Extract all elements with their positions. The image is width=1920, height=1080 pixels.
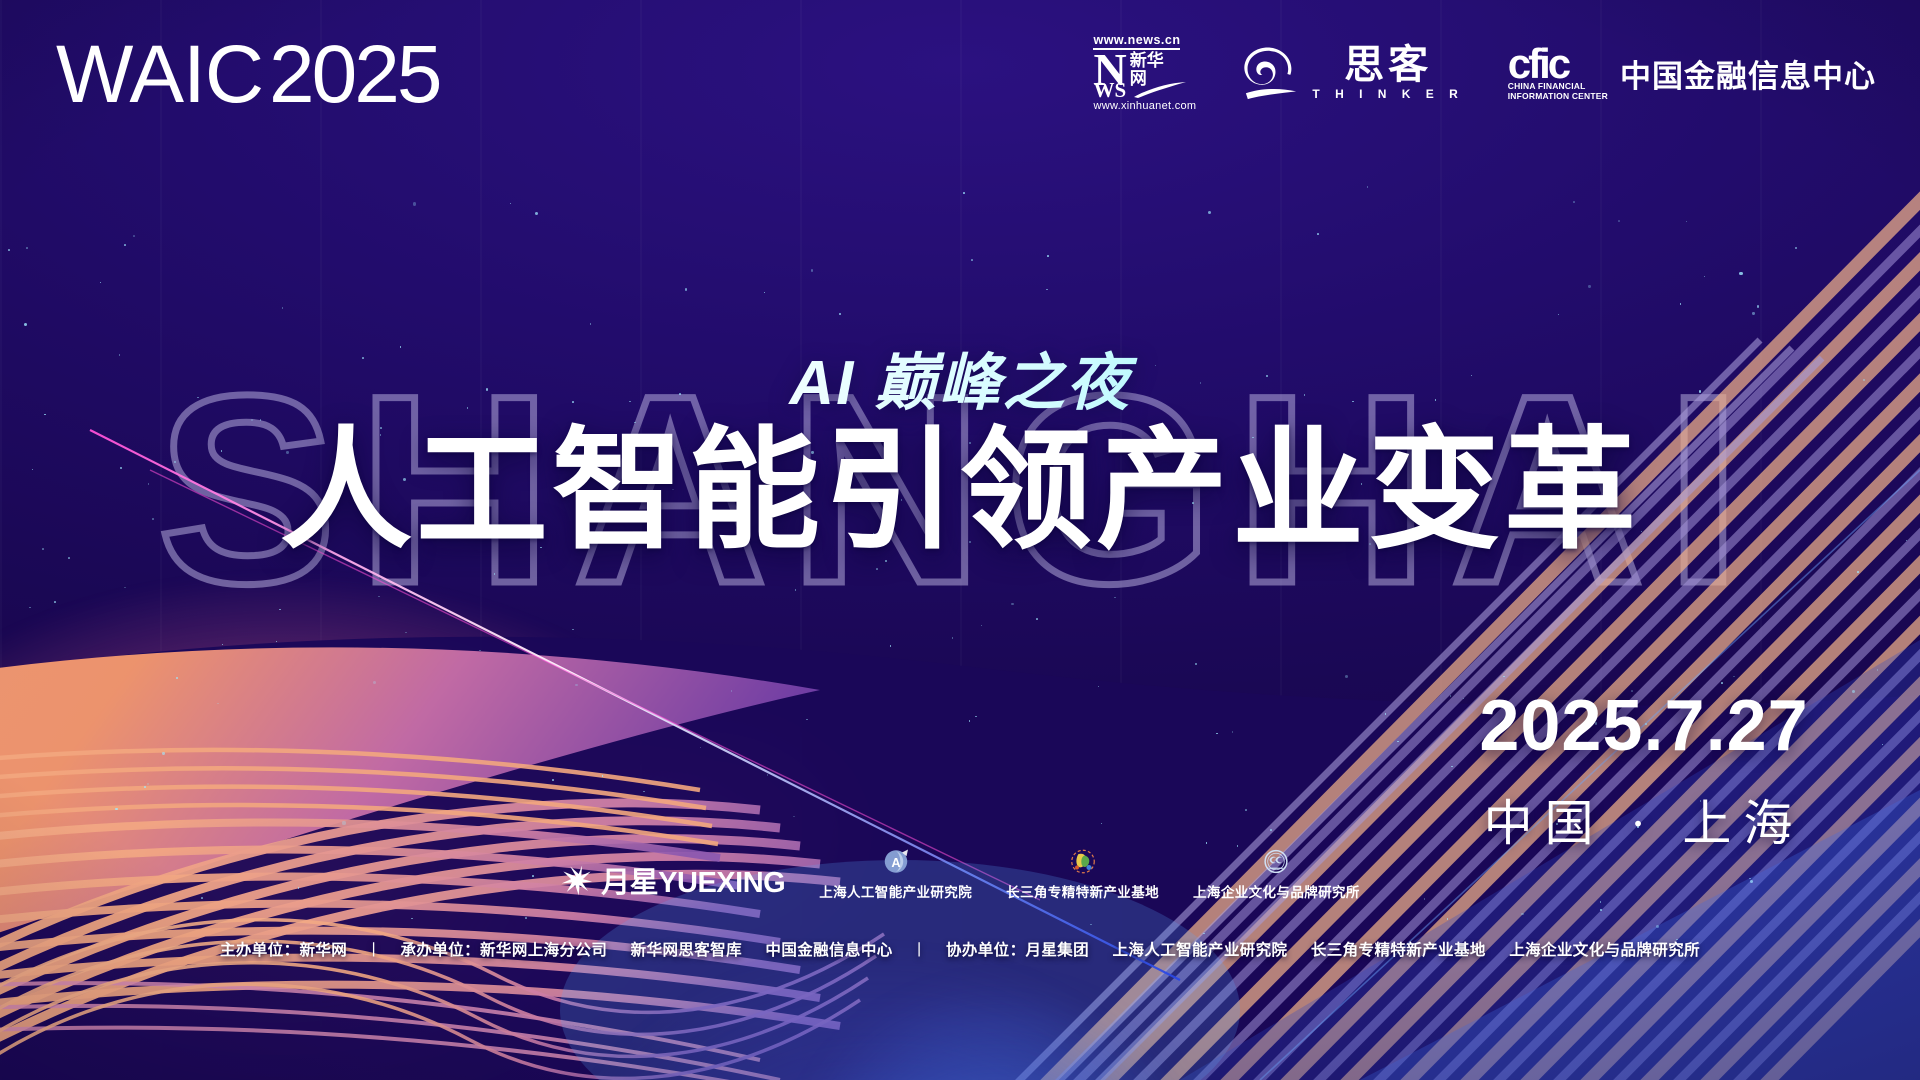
svg-text:A: A — [891, 855, 900, 870]
sponsor-yangtze-delta-base: 长三角专精特新产业基地 — [1006, 848, 1159, 901]
organizer-footer: 主办单位：新华网 丨 承办单位：新华网上海分公司 新华网思客智库 中国金融信息中… — [0, 938, 1920, 960]
footer-separator-1: 丨 — [366, 938, 382, 960]
cfic-sub-line2: INFORMATION CENTER — [1508, 92, 1608, 102]
footer-organizer-2: 新华网思客智库 — [631, 942, 742, 959]
xinhua-logo: www.news.cn N 新华 网 WS www.xinhuanet.com — [1093, 34, 1196, 112]
yuexing-star-icon — [560, 863, 594, 897]
enterprise-culture-brand-icon — [1261, 848, 1291, 878]
yangtze-delta-base-icon — [1068, 848, 1098, 878]
event-subtitle: AI 巅峰之夜 — [0, 332, 1920, 422]
waic-wordmark: WAIC — [56, 34, 263, 116]
thinker-logo: 思客 T H I N K E R — [1240, 45, 1463, 101]
footer-organizer: 承办单位：新华网上海分公司 — [401, 942, 608, 959]
partner-logo-row: www.news.cn N 新华 网 WS www.xinhuanet.com — [1093, 34, 1876, 112]
waic-year: 2025 — [269, 34, 439, 116]
event-headline: 人工智能引领产业变革 — [0, 420, 1920, 563]
footer-host: 主办单位：新华网 — [220, 942, 347, 959]
waic-2025-poster: SHANGHAI — [0, 0, 1920, 1080]
cfic-logo: cfic CHINA FINANCIAL INFORMATION CENTER … — [1508, 45, 1876, 102]
xinhua-url-bottom: www.xinhuanet.com — [1093, 101, 1196, 112]
footer-organizer-3: 中国金融信息中心 — [765, 942, 892, 959]
xinhua-letters-ws: WS — [1093, 82, 1126, 99]
sponsor-shanghai-ai-institute: A 上海人工智能产业研究院 — [819, 848, 972, 901]
event-location: 中国 · 上海 — [1454, 784, 1834, 855]
sponsor-enterprise-culture-brand-name: 上海企业文化与品牌研究所 — [1193, 881, 1360, 901]
footer-coorganizer-2: 上海人工智能产业研究院 — [1113, 942, 1288, 959]
sponsor-logo-row: 月星YUEXING A 上海人工智能产业研究院 长三角专精特新产业基地 — [0, 848, 1920, 901]
thinker-en-name: T H I N K E R — [1312, 87, 1463, 101]
cfic-wordmark: cfic — [1508, 45, 1608, 83]
footer-coorganizer-4: 上海企业文化与品牌研究所 — [1509, 942, 1700, 959]
xinhua-cn-line1: 新华 — [1130, 52, 1164, 69]
waic-logo: WAIC 2025 — [56, 34, 439, 116]
footer-coorganizer: 协办单位：月星集团 — [946, 942, 1089, 959]
event-date-block: 2025.7.27 中国 · 上海 — [1454, 690, 1834, 855]
shanghai-ai-institute-icon: A — [881, 848, 911, 878]
event-date: 2025.7.27 — [1454, 690, 1834, 762]
thinker-cn-name: 思客 — [1344, 45, 1432, 85]
xinhua-swoosh-icon — [1132, 81, 1188, 99]
sponsor-enterprise-culture-brand: 上海企业文化与品牌研究所 — [1193, 848, 1360, 901]
sponsor-shanghai-ai-institute-name: 上海人工智能产业研究院 — [819, 881, 972, 901]
footer-coorganizer-3: 长三角专精特新产业基地 — [1311, 942, 1486, 959]
sponsor-yuexing-name: 月星YUEXING — [601, 859, 785, 901]
sponsor-yangtze-delta-base-name: 长三角专精特新产业基地 — [1006, 881, 1159, 901]
footer-separator-2: 丨 — [911, 938, 927, 960]
cfic-cn-name: 中国金融信息中心 — [1620, 51, 1876, 96]
sponsor-yuexing: 月星YUEXING — [560, 859, 785, 901]
thinker-swirl-icon — [1240, 45, 1302, 101]
